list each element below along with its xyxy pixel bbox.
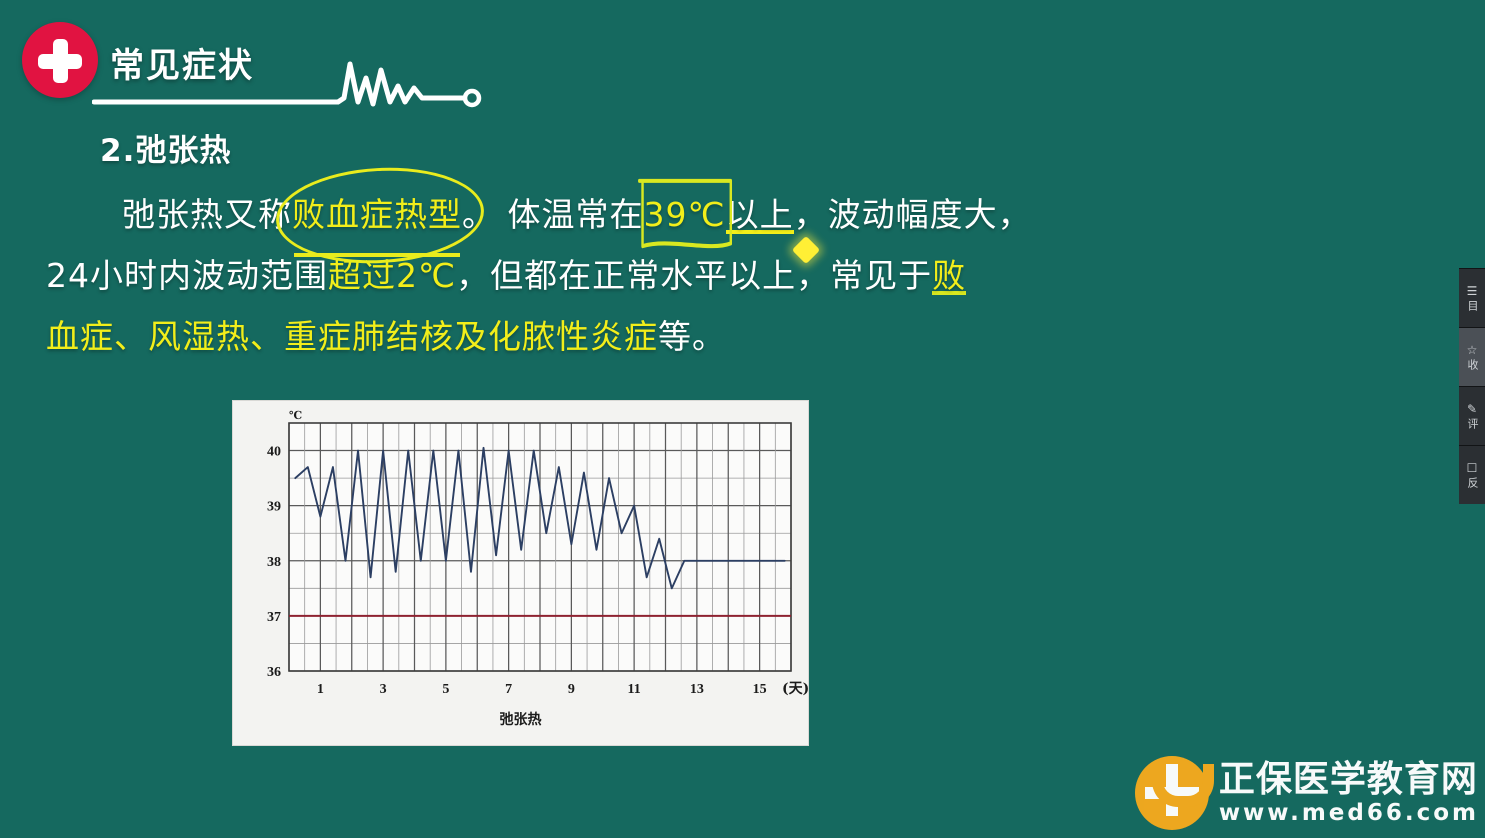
note-icon: ✎ [1467,403,1477,415]
logo-arc [1152,764,1214,807]
lesson-paragraph-line-3: 血症、风湿热、重症肺结核及化脓性炎症等。 [0,306,1160,367]
brand-watermark: 正保医学教育网 www.med66.com [1135,752,1479,834]
cross-bar-vertical [53,39,68,83]
watermark-url: www.med66.com [1219,802,1479,825]
lesson-content: 2.弛张热 弛张热又称败血症热型。 体温常在 39℃以上，波动幅度大， 24小时… [0,125,1160,367]
side-button-catalog[interactable]: ☰ 目 [1459,268,1485,327]
text-segment: 弛张热又称 [122,195,292,234]
svg-text:7: 7 [505,682,512,697]
watermark-text: 正保医学教育网 www.med66.com [1219,762,1479,825]
text-segment: 。 体温常在 [462,195,644,234]
annotation-circled-term: 败血症热型 [292,184,462,245]
svg-text:38: 38 [267,555,281,570]
text-segment: 败血症热型 [292,195,462,234]
text-segment-underlined: 以上 [726,195,794,234]
star-icon: ☆ [1467,344,1478,356]
chart-caption: 弛张热 [233,709,808,729]
side-button-feedback[interactable]: ☐ 反 [1459,445,1485,504]
lesson-paragraph-line-2: 24小时内波动范围超过2℃，但都在正常水平以上，常见于败 [0,245,1160,306]
medical-cross-icon [22,22,98,98]
med66-logo-icon [1135,756,1209,830]
text-segment-highlighted: 血症、风湿热、重症肺结核及化脓性炎症 [46,317,658,356]
svg-text:9: 9 [568,682,575,697]
svg-text:40: 40 [267,445,281,460]
svg-text:11: 11 [628,682,641,697]
chart-plot-area: ℃ 363738394013579111315(天) 弛张热 [233,401,808,745]
svg-text:1: 1 [317,682,324,697]
text-segment-highlighted-underlined: 败 [932,256,966,295]
side-button-label: 反 [1464,477,1480,489]
chart-y-unit-label: ℃ [289,409,302,422]
svg-text:5: 5 [442,682,449,697]
side-button-notes[interactable]: ✎ 评 [1459,386,1485,445]
svg-text:15: 15 [753,682,767,697]
side-button-favorites[interactable]: ☆ 收 [1459,327,1485,386]
text-segment: 39℃ [644,195,726,234]
text-segment: 24小时内波动范围 [46,256,328,295]
text-segment: ，但都在正常水平以上，常见于 [456,256,932,295]
slide-header: 常见症状 [0,0,1485,125]
fever-line-chart: 363738394013579111315(天) [233,401,808,745]
side-button-label: 评 [1464,418,1480,430]
svg-text:39: 39 [267,500,281,515]
section-heading: 2.弛张热 [100,125,1160,170]
lesson-paragraph-line-1: 弛张热又称败血症热型。 体温常在 39℃以上，波动幅度大， [0,184,1160,245]
svg-text:36: 36 [267,665,281,680]
watermark-brand: 正保医学教育网 [1219,762,1479,798]
svg-text:(天): (天) [782,681,808,697]
annotation-boxed-term: 39℃ [644,184,726,245]
fever-chart-card: ℃ 363738394013579111315(天) 弛张热 [232,400,809,746]
text-segment: 等。 [658,317,726,356]
right-side-toolbar[interactable]: ☰ 目 ☆ 收 ✎ 评 ☐ 反 [1459,268,1485,504]
side-button-label: 收 [1464,359,1480,371]
slide-canvas: 常见症状 2.弛张热 弛张热又称败血症热型。 体温常在 39℃以上，波动幅度大，… [0,0,1485,838]
text-segment-highlighted: 超过2℃ [328,256,456,295]
svg-text:13: 13 [690,682,704,697]
svg-text:3: 3 [380,682,387,697]
feedback-icon: ☐ [1467,462,1478,474]
page-title: 常见症状 [110,38,254,87]
side-button-label: 目 [1464,300,1480,312]
text-segment: ，波动幅度大， [794,195,1032,234]
list-icon: ☰ [1467,285,1478,297]
svg-text:37: 37 [267,610,281,625]
